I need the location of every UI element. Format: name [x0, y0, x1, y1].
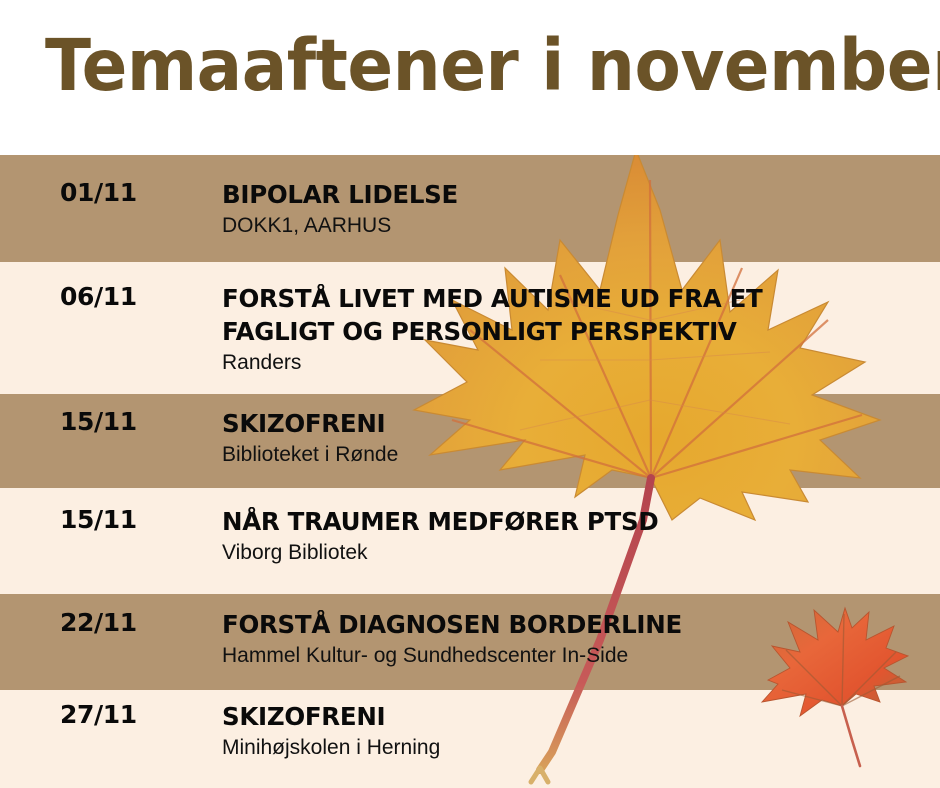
event-date: 15/11 [60, 407, 210, 437]
event-venue: Minihøjskolen i Herning [222, 734, 922, 761]
event-title: BIPOLAR LIDELSE [222, 178, 908, 211]
event-date: 01/11 [60, 178, 210, 208]
event-body: FORSTÅ DIAGNOSEN BORDERLINE Hammel Kultu… [222, 608, 922, 669]
event-title: SKIZOFRENI [222, 700, 908, 733]
title-bar: Temaaftener i november [0, 0, 940, 155]
event-body: FORSTÅ LIVET MED AUTISME UD FRA ET FAGLI… [222, 282, 922, 376]
event-venue: Randers [222, 349, 922, 376]
event-title: FORSTÅ DIAGNOSEN BORDERLINE [222, 608, 908, 641]
event-venue: Hammel Kultur- og Sundhedscenter In-Side [222, 642, 922, 669]
event-title: FORSTÅ LIVET MED AUTISME UD FRA ET FAGLI… [222, 282, 908, 348]
event-date: 27/11 [60, 700, 210, 730]
event-date: 06/11 [60, 282, 210, 312]
event-date: 22/11 [60, 608, 210, 638]
event-body: NÅR TRAUMER MEDFØRER PTSD Viborg Bibliot… [222, 505, 922, 566]
event-body: SKIZOFRENI Biblioteket i Rønde [222, 407, 922, 468]
event-venue: Biblioteket i Rønde [222, 441, 922, 468]
event-title: SKIZOFRENI [222, 407, 908, 440]
event-body: BIPOLAR LIDELSE DOKK1, AARHUS [222, 178, 922, 239]
event-venue: DOKK1, AARHUS [222, 212, 922, 239]
event-title: NÅR TRAUMER MEDFØRER PTSD [222, 505, 908, 538]
event-venue: Viborg Bibliotek [222, 539, 922, 566]
poster-canvas: Temaaftener i november 01/11 BIPOLAR LID… [0, 0, 940, 788]
event-date: 15/11 [60, 505, 210, 535]
event-body: SKIZOFRENI Minihøjskolen i Herning [222, 700, 922, 761]
page-title: Temaaftener i november [45, 26, 940, 106]
